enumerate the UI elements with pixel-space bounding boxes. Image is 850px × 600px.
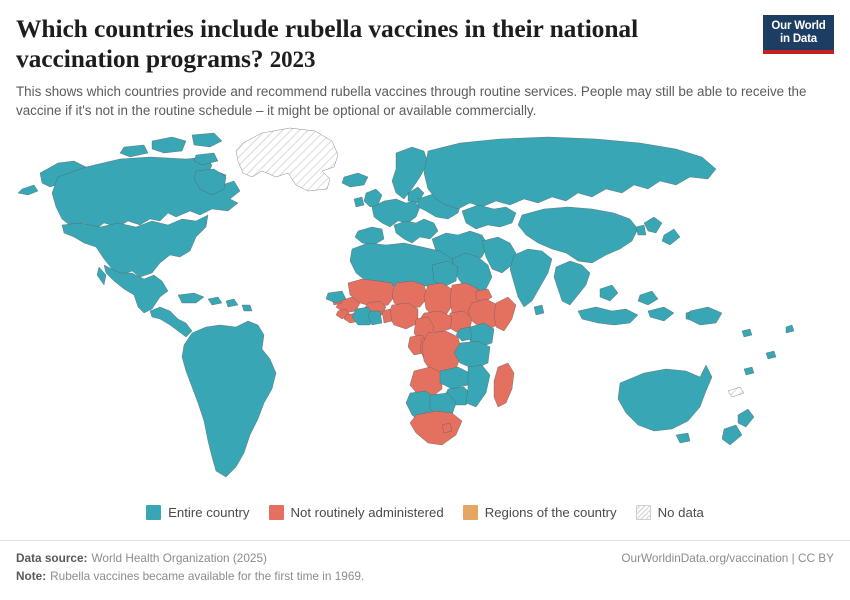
- legend-swatch-entire-country: [146, 505, 161, 520]
- owid-chart-root: Which countries include rubella vaccines…: [0, 0, 850, 600]
- country-somalia[interactable]: [494, 297, 516, 331]
- country-united-states[interactable]: [62, 215, 208, 277]
- legend-label-regions-of-the-country: Regions of the country: [485, 505, 617, 520]
- legend-item-entire-country[interactable]: Entire country: [146, 505, 249, 520]
- footer-note-row: Note: Rubella vaccines became available …: [16, 569, 834, 583]
- country-japan[interactable]: [636, 217, 680, 245]
- page-title-year: 2023: [270, 47, 316, 72]
- footer-source-value[interactable]: World Health Organization (2025): [91, 549, 267, 567]
- country-sri-lanka[interactable]: [534, 305, 544, 315]
- country-zambia[interactable]: [440, 367, 470, 389]
- country-australia[interactable]: [618, 365, 712, 431]
- country-mozambique[interactable]: [466, 365, 490, 407]
- country-madagascar[interactable]: [494, 363, 514, 407]
- country-south-africa[interactable]: [410, 411, 462, 445]
- country-iceland[interactable]: [342, 173, 368, 187]
- chart-footer: Data source: World Health Organization (…: [0, 540, 850, 583]
- legend-item-regions-of-the-country[interactable]: Regions of the country: [463, 505, 617, 520]
- title-row: Which countries include rubella vaccines…: [16, 14, 834, 74]
- footer-source: Data source: World Health Organization (…: [16, 549, 267, 567]
- owid-logo[interactable]: Our World in Data: [763, 15, 834, 54]
- country-tasmania[interactable]: [676, 433, 690, 443]
- country-british-isles[interactable]: [354, 189, 382, 207]
- legend-label-not-routinely-administered: Not routinely administered: [291, 505, 444, 520]
- country-scandinavia[interactable]: [392, 147, 428, 203]
- world-map[interactable]: [0, 115, 850, 500]
- country-nigeria[interactable]: [388, 303, 418, 329]
- country-tanzania[interactable]: [454, 341, 490, 369]
- legend-item-no-data[interactable]: No data: [636, 505, 704, 520]
- country-italy-balkans[interactable]: [394, 219, 438, 243]
- country-india[interactable]: [510, 249, 552, 307]
- legend-swatch-regions-of-the-country: [463, 505, 478, 520]
- legend-swatch-no-data: [636, 505, 651, 520]
- page-title: Which countries include rubella vaccines…: [16, 14, 716, 74]
- legend-swatch-not-routinely-administered: [269, 505, 284, 520]
- country-iberia[interactable]: [355, 227, 384, 245]
- country-southeast-asia[interactable]: [554, 261, 590, 305]
- world-map-svg[interactable]: [0, 115, 850, 500]
- page-title-text: Which countries include rubella vaccines…: [16, 14, 638, 73]
- country-lesotho[interactable]: [442, 423, 452, 433]
- country-caribbean-islands[interactable]: [178, 293, 252, 311]
- footer-source-row: Data source: World Health Organization (…: [16, 549, 834, 567]
- country-mexico[interactable]: [97, 265, 168, 313]
- owid-logo-line2: in Data: [767, 33, 830, 46]
- footer-attribution[interactable]: OurWorldinData.org/vaccination | CC BY: [621, 549, 834, 567]
- country-central-asia[interactable]: [462, 205, 516, 229]
- owid-logo-line1: Our World: [767, 20, 830, 33]
- footer-source-label: Data source:: [16, 549, 87, 567]
- country-greenland[interactable]: [236, 128, 338, 191]
- country-south-america[interactable]: [182, 321, 276, 477]
- map-legend: Entire country Not routinely administere…: [0, 505, 850, 520]
- country-pacific-islands[interactable]: [742, 325, 794, 375]
- country-russia[interactable]: [424, 137, 716, 209]
- country-benin[interactable]: [382, 309, 392, 323]
- country-papua-new-guinea[interactable]: [688, 307, 722, 325]
- legend-label-no-data: No data: [658, 505, 704, 520]
- country-central-america[interactable]: [150, 307, 192, 337]
- footer-note-value: Rubella vaccines became available for th…: [50, 569, 364, 583]
- footer-note-label: Note:: [16, 569, 46, 583]
- country-new-caledonia[interactable]: [728, 387, 744, 397]
- chart-header: Which countries include rubella vaccines…: [0, 0, 850, 121]
- legend-label-entire-country: Entire country: [168, 505, 249, 520]
- legend-item-not-routinely-administered[interactable]: Not routinely administered: [269, 505, 444, 520]
- country-new-zealand[interactable]: [722, 409, 754, 445]
